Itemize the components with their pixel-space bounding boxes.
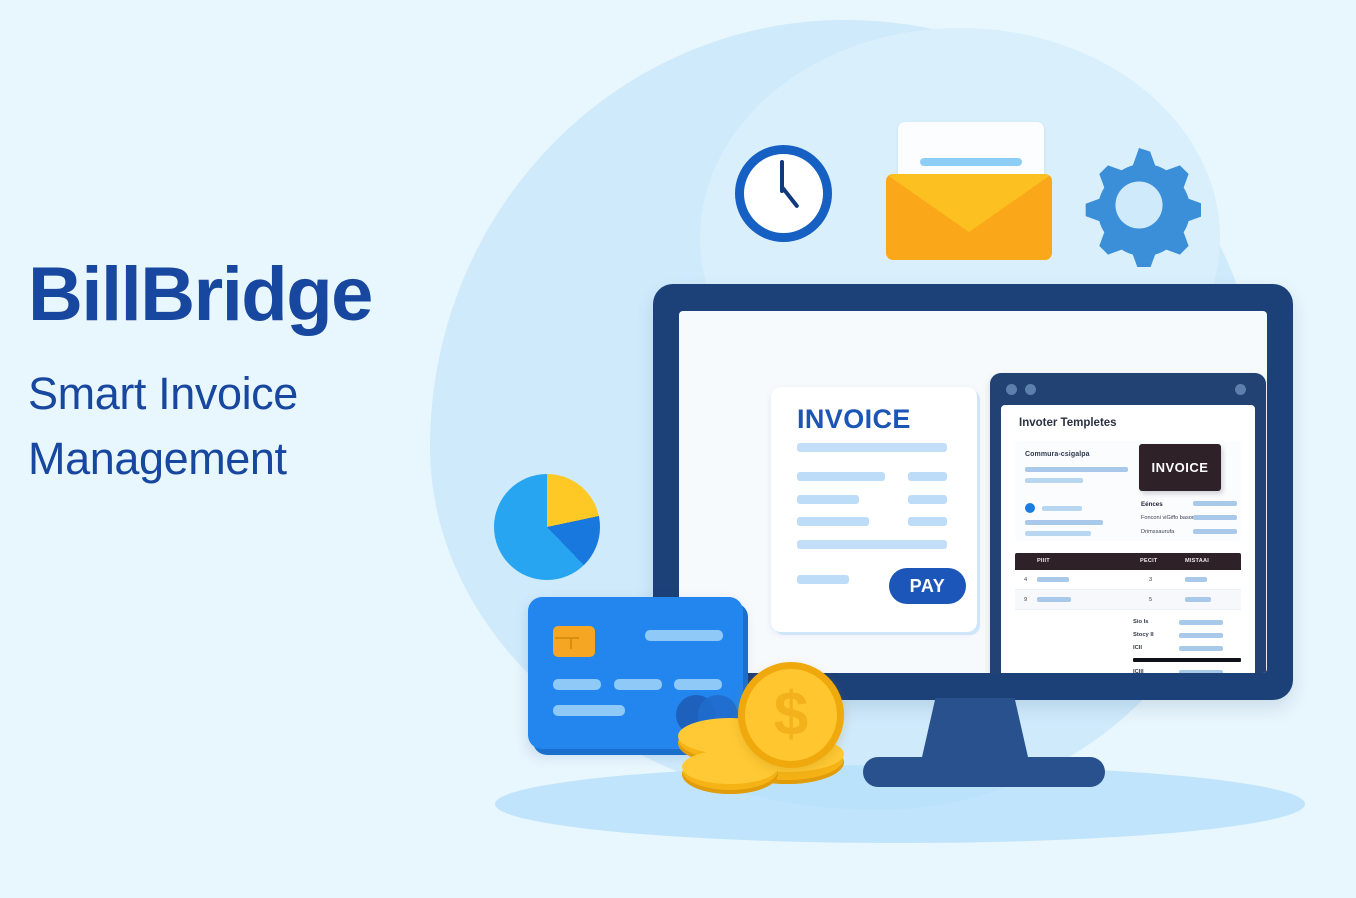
gear-icon	[1077, 143, 1201, 267]
bullet-dot-icon	[1025, 503, 1035, 513]
summary-row: Stocy II	[1133, 630, 1241, 643]
section-title: Commura-csigalpa	[1025, 451, 1090, 458]
template-preview-panel: Commura-csigalpa INVOICE Eénces Fonconi …	[1015, 441, 1241, 541]
brand-tagline-line2: Management	[28, 426, 498, 491]
totals-summary: Sio Is Stocy II ICII	[1133, 617, 1241, 656]
placeholder-bar	[1025, 478, 1083, 483]
invoice-line	[797, 495, 859, 504]
window-dot-icon[interactable]	[1025, 384, 1036, 395]
coin-with-dollar: $	[738, 662, 844, 768]
table-cell-value: 5	[1149, 597, 1152, 603]
placeholder-bar	[1193, 529, 1237, 534]
card-bar	[553, 679, 601, 690]
card-chip-icon	[553, 626, 595, 657]
envelope-flap	[886, 174, 1052, 232]
detail-line: Fonconi viGiffo bason	[1141, 515, 1195, 521]
envelope-body	[886, 174, 1052, 260]
placeholder-bar	[1185, 577, 1207, 582]
placeholder-bar	[1037, 597, 1071, 602]
placeholder-bar	[1193, 501, 1237, 506]
browser-page-content: Invoter Templetes Commura-csigalpa INVOI…	[1001, 405, 1255, 673]
summary-row: ICII	[1133, 643, 1241, 656]
placeholder-bar	[1185, 597, 1211, 602]
total-row: ICIII	[1133, 667, 1241, 673]
placeholder-bar	[1037, 577, 1069, 582]
placeholder-bar	[1025, 467, 1128, 472]
summary-label: Stocy II	[1133, 632, 1154, 638]
invoice-line	[797, 517, 869, 526]
browser-title-bar	[990, 373, 1266, 403]
summary-row: Sio Is	[1133, 617, 1241, 630]
table-row: 4 3	[1015, 570, 1241, 590]
invoice-line	[797, 575, 849, 584]
summary-label: Sio Is	[1133, 619, 1148, 625]
placeholder-bar	[1025, 520, 1103, 525]
page-title: Invoter Templetes	[1019, 417, 1117, 429]
placeholder-bar	[1179, 620, 1223, 625]
placeholder-bar	[1179, 670, 1223, 673]
card-bar	[645, 630, 723, 641]
monitor-frame: INVOICE PAY Invoter	[653, 284, 1293, 700]
invoice-line	[797, 443, 947, 452]
monitor-screen: INVOICE PAY Invoter	[679, 311, 1267, 673]
monitor-stand-neck	[920, 698, 1030, 766]
detail-line: Drimssaurufa	[1141, 529, 1174, 535]
placeholder-bar	[1193, 515, 1237, 520]
illustration-canvas: BillBridge Smart Invoice Management INVO…	[0, 0, 1356, 898]
envelope-letter-line	[920, 158, 1022, 166]
invoice-line	[797, 540, 947, 549]
table-cell-value: 3	[1149, 577, 1152, 583]
clock-icon	[735, 145, 832, 242]
table-header-cell: MISTAAI	[1185, 558, 1209, 564]
invoice-line	[797, 472, 885, 481]
browser-window: Invoter Templetes Commura-csigalpa INVOI…	[990, 373, 1266, 673]
pay-button[interactable]: PAY	[889, 568, 966, 604]
table-header-cell: PECIT	[1140, 558, 1157, 564]
invoice-line	[908, 517, 947, 526]
total-label: ICIII	[1133, 669, 1144, 673]
details-heading: Eénces	[1141, 501, 1163, 508]
invoice-line	[908, 495, 947, 504]
table-cell-index: 9	[1024, 597, 1027, 603]
envelope-icon	[886, 122, 1052, 260]
pie-chart-icon	[494, 474, 600, 580]
brand-tagline-line1: Smart Invoice	[28, 361, 498, 426]
brand-tagline: Smart Invoice Management	[28, 361, 498, 492]
invoice-badge: INVOICE	[1139, 444, 1221, 491]
table-header-row: PIIIT PECIT MISTAAI	[1015, 553, 1241, 570]
summary-label: ICII	[1133, 645, 1142, 651]
total-divider	[1133, 658, 1241, 662]
brand-text-block: BillBridge Smart Invoice Management	[28, 255, 498, 491]
window-dot-icon[interactable]	[1006, 384, 1017, 395]
placeholder-bar	[1179, 646, 1223, 651]
placeholder-bar	[1042, 506, 1082, 511]
dollar-sign-icon: $	[745, 669, 837, 761]
card-bar	[614, 679, 662, 690]
monitor-stand-base	[863, 757, 1105, 787]
placeholder-bar	[1179, 633, 1223, 638]
table-header-cell: PIIIT	[1037, 558, 1050, 564]
invoice-line	[908, 472, 947, 481]
table-cell-index: 4	[1024, 577, 1027, 583]
coins-icon: $	[678, 662, 858, 812]
invoice-card-title: INVOICE	[797, 404, 911, 435]
line-items-table: PIIIT PECIT MISTAAI 4 3 9	[1015, 553, 1241, 610]
card-bar	[553, 705, 625, 716]
table-row: 9 5	[1015, 590, 1241, 610]
placeholder-bar	[1025, 531, 1091, 536]
brand-title: BillBridge	[28, 255, 498, 335]
invoice-card: INVOICE PAY	[771, 387, 977, 632]
window-close-dot-icon[interactable]	[1235, 384, 1246, 395]
